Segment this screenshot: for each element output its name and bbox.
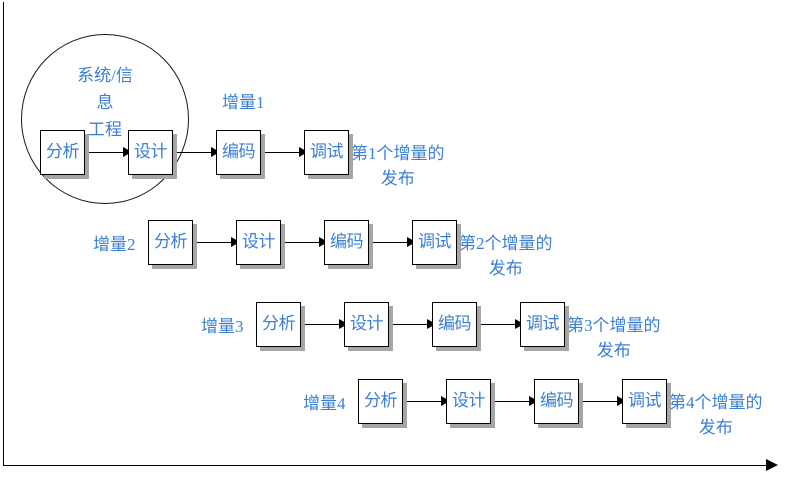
- stage-box-testing-3[interactable]: 调试: [520, 302, 565, 347]
- connector-4-3: [579, 401, 619, 402]
- y-axis-line: [3, 2, 4, 466]
- increment-label-3: 增量3: [201, 312, 244, 337]
- connector-3-2: [389, 324, 429, 325]
- connector-3-3: [477, 324, 517, 325]
- release-line2-1: 发布: [351, 166, 445, 191]
- release-line1-3: 第3个增量的: [567, 316, 661, 335]
- connector-3-1: [301, 324, 341, 325]
- diagram-canvas: 系统/信 息 工程 增量1 分析 设计 编码 调试 第1个增量的 发布 增量2 …: [0, 0, 791, 479]
- connector-2-3: [369, 242, 409, 243]
- stage-box-testing-1[interactable]: 调试: [304, 130, 349, 175]
- release-line2-2: 发布: [459, 256, 553, 281]
- increment-label-2: 增量2: [93, 230, 136, 255]
- stage-box-coding-4[interactable]: 编码: [534, 379, 579, 424]
- connector-2-1: [193, 242, 233, 243]
- stage-box-design-3[interactable]: 设计: [344, 302, 389, 347]
- stage-box-coding-2[interactable]: 编码: [324, 220, 369, 265]
- increment-label-4: 增量4: [303, 389, 346, 414]
- release-line1-1: 第1个增量的: [351, 144, 445, 163]
- stage-box-testing-2[interactable]: 调试: [412, 220, 457, 265]
- stage-box-design-1[interactable]: 设计: [128, 130, 173, 175]
- stage-box-analysis-4[interactable]: 分析: [358, 379, 403, 424]
- release-label-4: 第4个增量的 发布: [669, 390, 763, 440]
- stage-box-analysis-2[interactable]: 分析: [148, 220, 193, 265]
- stage-box-coding-3[interactable]: 编码: [432, 302, 477, 347]
- release-line1-2: 第2个增量的: [459, 234, 553, 253]
- release-label-3: 第3个增量的 发布: [567, 313, 661, 363]
- release-line2-4: 发布: [669, 415, 763, 440]
- stage-box-analysis-1[interactable]: 分析: [40, 130, 85, 175]
- connector-4-2: [491, 401, 531, 402]
- increment-label-1: 增量1: [222, 88, 265, 113]
- connector-2-2: [281, 242, 321, 243]
- release-line2-3: 发布: [567, 338, 661, 363]
- stage-box-design-4[interactable]: 设计: [446, 379, 491, 424]
- connector-1-3: [261, 152, 301, 153]
- release-label-2: 第2个增量的 发布: [459, 231, 553, 281]
- x-axis-line: [3, 465, 773, 466]
- stage-box-testing-4[interactable]: 调试: [622, 379, 667, 424]
- stage-box-analysis-3[interactable]: 分析: [256, 302, 301, 347]
- x-axis-arrowhead-icon: [766, 459, 778, 471]
- release-line1-4: 第4个增量的: [669, 393, 763, 412]
- stage-box-design-2[interactable]: 设计: [236, 220, 281, 265]
- release-label-1: 第1个增量的 发布: [351, 141, 445, 191]
- connector-4-1: [403, 401, 443, 402]
- connector-1-1: [85, 152, 125, 153]
- connector-1-2: [173, 152, 213, 153]
- stage-box-coding-1[interactable]: 编码: [216, 130, 261, 175]
